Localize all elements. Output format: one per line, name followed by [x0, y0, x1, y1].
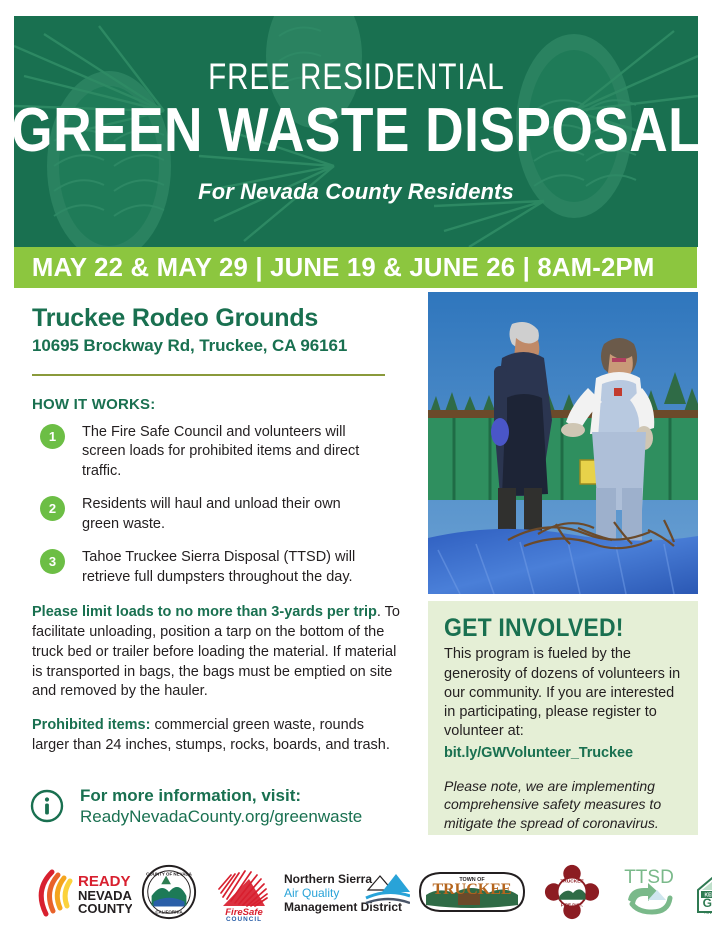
svg-text:Northern Sierra: Northern Sierra [284, 872, 372, 886]
svg-text:COUNTY: COUNTY [78, 901, 132, 916]
get-involved-title: GET INVOLVED! [444, 615, 663, 641]
left-content-column: Truckee Rodeo Grounds 10695 Brockway Rd,… [32, 305, 414, 769]
step-number-badge: 2 [40, 496, 65, 521]
section-divider [32, 374, 385, 376]
svg-text:Management District: Management District [284, 900, 402, 914]
event-photo-illustration [428, 292, 698, 594]
ttsd-logo: TTSD [610, 861, 688, 923]
website-url[interactable]: ReadyNevadaCounty.org/greenwaste [80, 806, 362, 827]
prohibited-items-emphasis: Prohibited items: [32, 717, 150, 733]
truckee-fire-district-logo: TRUCKEE FIRE DIST. [534, 861, 610, 923]
event-dates-bar: MAY 22 & MAY 29 | JUNE 19 & JUNE 26 | 8A… [14, 247, 697, 288]
notes-block: Please limit loads to no more than 3-yar… [32, 603, 404, 755]
prohibited-items-paragraph: Prohibited items: commercial green waste… [32, 716, 404, 755]
list-item: 1 The Fire Safe Council and volunteers w… [32, 423, 414, 482]
step-number-badge: 3 [40, 549, 65, 574]
town-of-truckee-logo: TOWN OF TRUCKEE [410, 861, 534, 923]
step-text: Residents will haul and unload their own… [82, 495, 372, 534]
how-it-works-steps: 1 The Fire Safe Council and volunteers w… [32, 423, 414, 588]
volunteer-register-link[interactable]: bit.ly/GWVolunteer_Truckee [444, 745, 682, 761]
svg-text:FIRE DIST.: FIRE DIST. [561, 903, 583, 908]
svg-text:COUNCIL: COUNCIL [226, 916, 262, 921]
town-of-truckee-mark: TOWN OF TRUCKEE [412, 867, 532, 917]
truckee-fire-district-mark: TRUCKEE FIRE DIST. [543, 863, 601, 921]
hero-subheadline: For Nevada County Residents [198, 179, 514, 205]
more-information-text: For more information, visit: ReadyNevada… [80, 785, 362, 828]
hero-headline-secondary: GREEN WASTE DISPOSAL [14, 99, 698, 163]
more-information-label: For more information, visit: [80, 785, 362, 806]
more-information-row: For more information, visit: ReadyNevada… [30, 785, 362, 828]
hero-banner: FREE RESIDENTIAL GREEN WASTE DISPOSAL Fo… [14, 16, 698, 247]
hero-headline-primary: FREE RESIDENTIAL [208, 58, 505, 97]
get-involved-panel: GET INVOLVED! This program is fueled by … [428, 601, 698, 835]
ttsd-mark: TTSD [614, 864, 684, 920]
sponsor-logo-strip: READY NEVADA COUNTY COUNTY OF NEVADA CAL… [0, 855, 712, 929]
fire-safe-council-mark: FireSafe COUNCIL [209, 863, 279, 921]
svg-text:TRUCKEE: TRUCKEE [560, 878, 584, 884]
keep-truckee-green-mark: KEEP TRUCKEE GREEN TOWN OF TRUCKEE [692, 864, 712, 920]
county-of-nevada-seal-logo: COUNTY OF NEVADA CALIFORNIA [132, 861, 206, 923]
venue-name: Truckee Rodeo Grounds [32, 305, 414, 333]
how-it-works-title: HOW IT WORKS: [32, 396, 414, 413]
keep-truckee-green-logo: KEEP TRUCKEE GREEN TOWN OF TRUCKEE [688, 861, 712, 923]
list-item: 3 Tahoe Truckee Sierra Disposal (TTSD) w… [32, 548, 414, 587]
step-text: Tahoe Truckee Sierra Disposal (TTSD) wil… [82, 548, 372, 587]
svg-text:CALIFORNIA: CALIFORNIA [155, 909, 183, 914]
svg-text:Air Quality: Air Quality [284, 886, 339, 900]
venue-address: 10695 Brockway Rd, Truckee, CA 96161 [32, 336, 414, 356]
svg-text:TRUCKEE: TRUCKEE [432, 881, 511, 898]
event-dates-text: MAY 22 & MAY 29 | JUNE 19 & JUNE 26 | 8A… [14, 252, 655, 283]
northern-sierra-air-quality-management-district-logo: Northern Sierra Air Quality Management D… [282, 861, 410, 923]
ready-nevada-county-logo-mark: READY NEVADA COUNTY [26, 864, 132, 920]
northern-sierra-aqmd-mark: Northern Sierra Air Quality Management D… [282, 868, 410, 916]
list-item: 2 Residents will haul and unload their o… [32, 495, 414, 534]
covid-safety-note: Please note, we are implementing compreh… [444, 777, 682, 833]
step-text: The Fire Safe Council and volunteers wil… [82, 423, 372, 482]
svg-text:TOWN OF TRUCKEE: TOWN OF TRUCKEE [704, 910, 712, 915]
get-involved-body: This program is fueled by the generosity… [444, 645, 682, 741]
county-of-nevada-seal-mark: COUNTY OF NEVADA CALIFORNIA [140, 863, 198, 921]
flyer-page: FREE RESIDENTIAL GREEN WASTE DISPOSAL Fo… [0, 0, 712, 929]
svg-text:GREEN: GREEN [703, 896, 712, 910]
info-circle-icon [30, 789, 64, 823]
fire-safe-council-logo: FireSafe COUNCIL [206, 861, 282, 923]
step-number-badge: 1 [40, 424, 65, 449]
event-photo [428, 292, 698, 594]
ready-nevada-county-logo: READY NEVADA COUNTY [26, 861, 132, 923]
load-limit-emphasis: Please limit loads to no more than 3-yar… [32, 604, 377, 620]
svg-text:COUNTY OF NEVADA: COUNTY OF NEVADA [146, 872, 192, 877]
load-limit-paragraph: Please limit loads to no more than 3-yar… [32, 603, 404, 702]
